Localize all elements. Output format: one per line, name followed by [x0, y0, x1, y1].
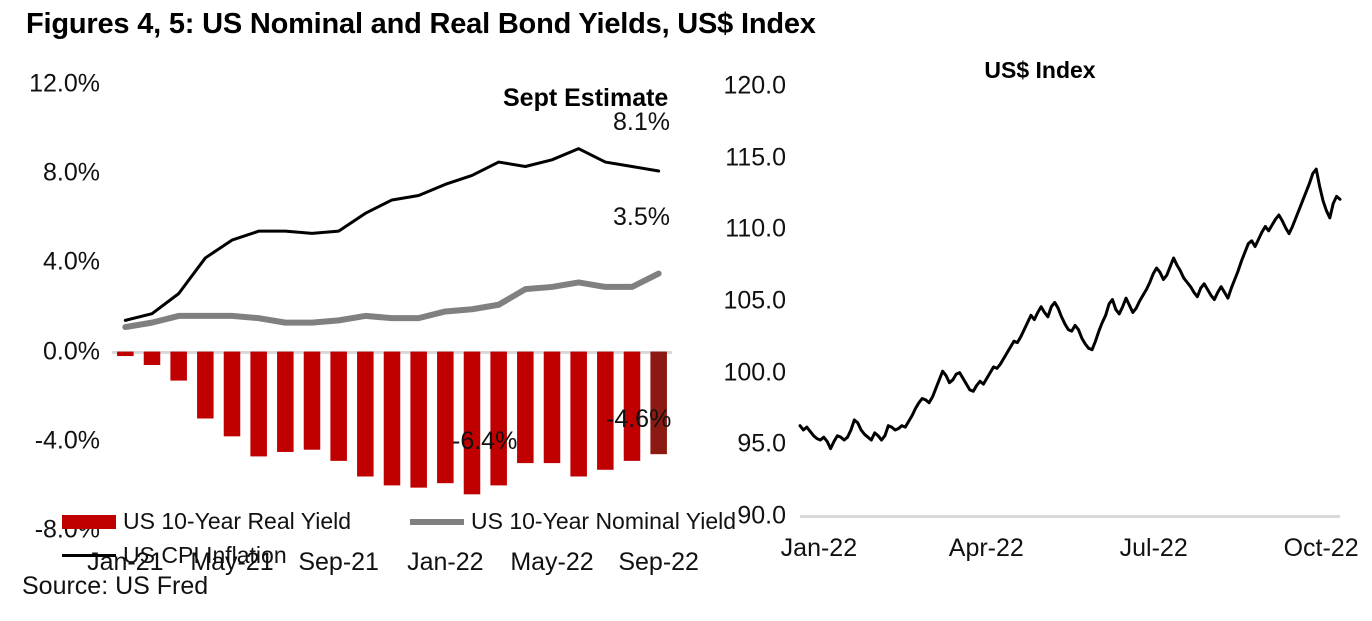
usd-index-plot-area — [0, 0, 1372, 560]
legend-swatch-icon — [410, 519, 464, 525]
legend-label: US 10-Year Real Yield — [123, 508, 351, 535]
legend-swatch-icon — [62, 554, 116, 557]
legend-item[interactable]: US 10-Year Nominal Yield — [410, 508, 736, 535]
legend-item[interactable]: US CPI Inflation — [62, 542, 287, 569]
legend-label: US CPI Inflation — [123, 542, 287, 569]
x-axis-label: Oct-22 — [1284, 534, 1359, 563]
x-axis-label: Jan-22 — [781, 534, 857, 563]
x-axis-label: Apr-22 — [949, 534, 1024, 563]
legend-item[interactable]: US 10-Year Real Yield — [62, 508, 351, 535]
legend-label: US 10-Year Nominal Yield — [471, 508, 736, 535]
x-axis-label: Jul-22 — [1120, 534, 1188, 563]
usd-index-line — [800, 169, 1340, 449]
source-note: Source: US Fred — [22, 572, 208, 601]
usd-index-chart: US$ Index120.0115.0110.0105.0100.095.090… — [0, 0, 1372, 560]
legend-swatch-icon — [62, 515, 116, 529]
